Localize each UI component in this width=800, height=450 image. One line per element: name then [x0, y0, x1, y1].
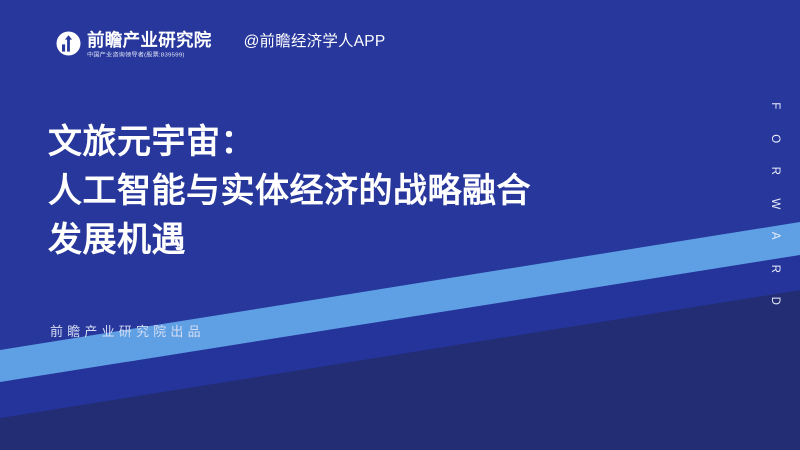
forward-letter-r1: R [768, 165, 780, 177]
brand-logo-text: 前瞻产业研究院 中国产业咨询领导者(股票:839599) [87, 30, 212, 60]
title-line-3: 发展机遇 [48, 216, 531, 265]
brand-name: 前瞻产业研究院 [87, 31, 212, 50]
forward-letter-a: A [768, 230, 780, 242]
dark-navy-wedge [0, 290, 800, 450]
forward-letter-d: D [768, 295, 780, 307]
page-title: 文旅元宇宙： 人工智能与实体经济的战略融合 发展机遇 [48, 118, 531, 265]
title-line-1: 文旅元宇宙： [48, 118, 531, 167]
byline: 前瞻产业研究院出品 [50, 323, 205, 341]
forward-letter-r2: R [768, 262, 780, 274]
brand-tagline: 中国产业咨询领导者(股票:839599) [87, 51, 212, 60]
app-handle: @前瞻经济学人APP [244, 30, 386, 51]
brand-logo[interactable]: 前瞻产业研究院 中国产业咨询领导者(股票:839599) [56, 30, 212, 60]
forward-vertical-label: F O R W A R D [768, 100, 780, 307]
header: 前瞻产业研究院 中国产业咨询领导者(股票:839599) @前瞻经济学人APP [56, 30, 385, 60]
forward-letter-f: F [768, 100, 780, 112]
forward-letter-o: O [768, 132, 780, 144]
report-cover-slide: 前瞻产业研究院 中国产业咨询领导者(股票:839599) @前瞻经济学人APP … [0, 0, 800, 450]
qianzhan-circle-arrow-logo-icon [56, 31, 81, 56]
title-line-2: 人工智能与实体经济的战略融合 [48, 167, 531, 216]
forward-letter-w: W [768, 197, 780, 209]
